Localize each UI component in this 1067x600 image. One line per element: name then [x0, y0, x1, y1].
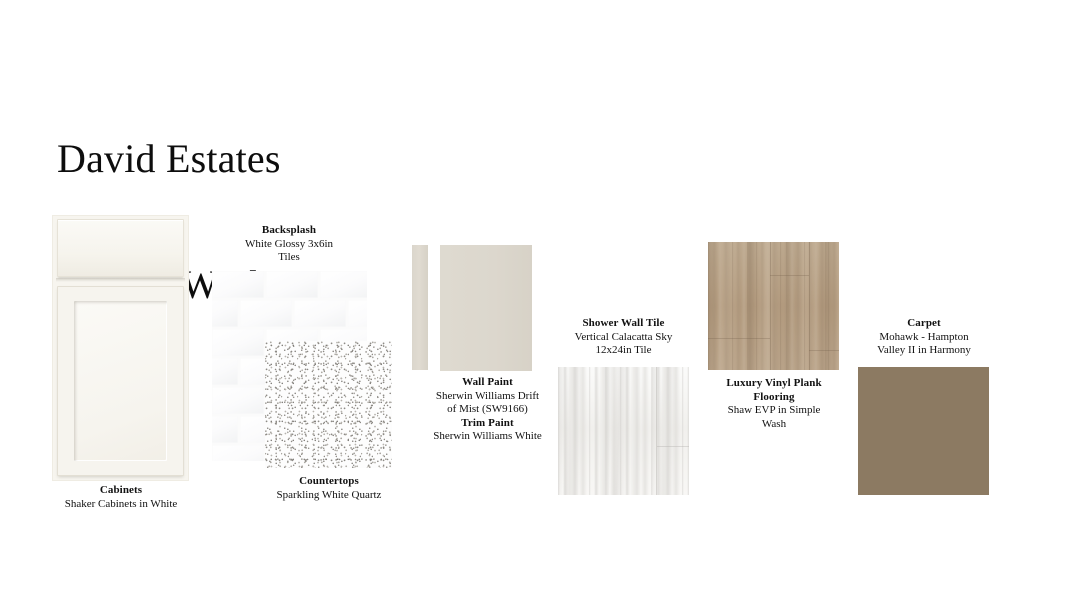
wall-paint-swatch-image [440, 245, 532, 371]
wall-paint-subtitle-line-2: of Mist (SW9166) [405, 403, 570, 417]
tile-grout-seam-horizontal [657, 446, 689, 447]
lvp-subtitle-line-1: Shaw EVP in Simple [703, 404, 845, 418]
carpet-caption: Carpet Mohawk - Hampton Valley II in Har… [848, 317, 1000, 358]
lvp-heading-line-2: Flooring [703, 391, 845, 405]
cabinets-heading: Cabinets [35, 484, 207, 498]
subway-tile-row [212, 271, 367, 298]
luxury-vinyl-plank-caption: Luxury Vinyl Plank Flooring Shaw EVP in … [703, 377, 845, 431]
plank-seam [770, 242, 771, 370]
cabinet-reveal-gap [56, 278, 185, 282]
carpet-heading: Carpet [848, 317, 1000, 331]
carpet-subtitle-line-1: Mohawk - Hampton [848, 331, 1000, 345]
cabinet-door-recessed-panel [74, 301, 167, 461]
shower-wall-tile-heading: Shower Wall Tile [546, 317, 701, 331]
cabinet-door-front [57, 286, 184, 476]
shower-wall-tile-swatch-image [558, 367, 689, 495]
cabinets-swatch-image [53, 216, 188, 480]
plank-butt-joint [708, 338, 770, 339]
trim-paint-subtitle: Sherwin Williams White [405, 430, 570, 444]
cabinets-caption: Cabinets Shaker Cabinets in White [35, 484, 207, 511]
plank-butt-joint [809, 350, 839, 351]
countertops-heading: Countertops [248, 475, 410, 489]
backsplash-heading: Backsplash [218, 224, 360, 238]
paint-caption: Wall Paint Sherwin Williams Drift of Mis… [405, 376, 570, 444]
carpet-subtitle-line-2: Valley II in Harmony [848, 344, 1000, 358]
plank-butt-joint [770, 275, 809, 276]
backsplash-subtitle-line-1: White Glossy 3x6in [218, 238, 360, 252]
subway-tile-row [212, 300, 367, 327]
carpet-swatch-image [858, 367, 989, 495]
trim-paint-heading: Trim Paint [405, 417, 570, 431]
luxury-vinyl-plank-swatch-image [708, 242, 839, 370]
page-title-line-1: David Estates [57, 138, 281, 180]
shower-wall-tile-subtitle-line-1: Vertical Calacatta Sky [546, 331, 701, 345]
backsplash-subtitle-line-2: Tiles [218, 251, 360, 265]
wall-paint-heading: Wall Paint [405, 376, 570, 390]
trim-paint-swatch-image [412, 245, 428, 370]
tile-grout-seam-vertical [656, 367, 657, 495]
lvp-subtitle-line-2: Wash [703, 418, 845, 432]
countertops-caption: Countertops Sparkling White Quartz [248, 475, 410, 502]
cabinet-drawer-front [57, 219, 184, 277]
shower-wall-tile-caption: Shower Wall Tile Vertical Calacatta Sky … [546, 317, 701, 358]
lvp-heading-line-1: Luxury Vinyl Plank [703, 377, 845, 391]
shower-wall-tile-subtitle-line-2: 12x24in Tile [546, 344, 701, 358]
cabinets-subtitle: Shaker Cabinets in White [35, 498, 207, 512]
countertops-subtitle: Sparkling White Quartz [248, 489, 410, 503]
countertops-swatch-image [265, 341, 392, 468]
backsplash-caption: Backsplash White Glossy 3x6in Tiles [218, 224, 360, 265]
wall-paint-subtitle-line-1: Sherwin Williams Drift [405, 390, 570, 404]
